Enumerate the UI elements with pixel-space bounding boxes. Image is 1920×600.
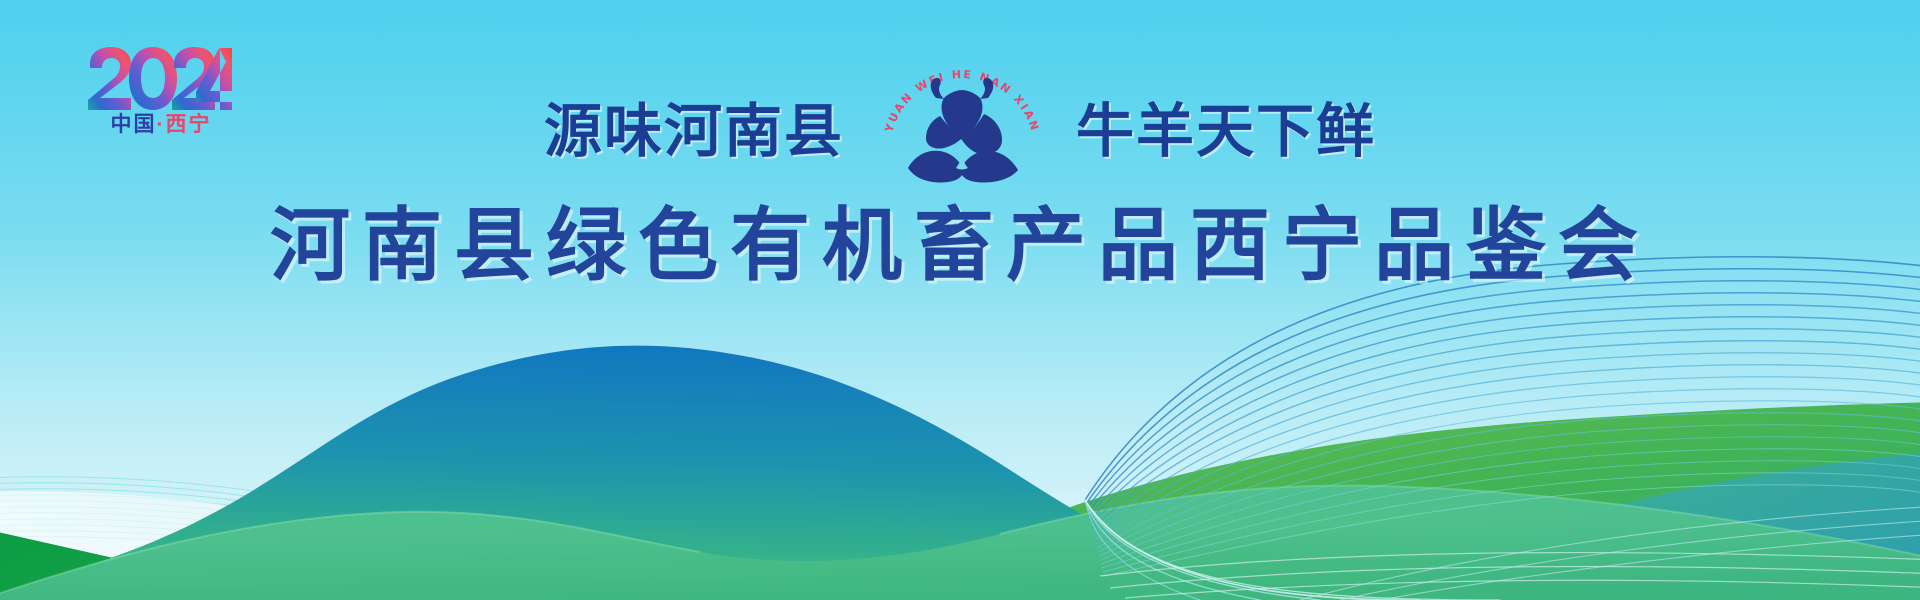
page-title: 河南县绿色有机畜产品西宁品鉴会 [0, 206, 1920, 286]
brand-lockup: 源味河南县 YUAN WEI HE NAN XIAN [0, 62, 1920, 182]
yak-silhouette [908, 78, 1018, 183]
event-banner: 中国·西宁 源味河南县 YUAN WEI HE NAN XIAN [0, 0, 1920, 600]
brand-right-text: 牛羊天下鲜 [1076, 102, 1376, 160]
yak-bull-mark: YUAN WEI HE NAN XIAN [878, 58, 1046, 186]
brand-left-text: 源味河南县 [544, 102, 844, 160]
